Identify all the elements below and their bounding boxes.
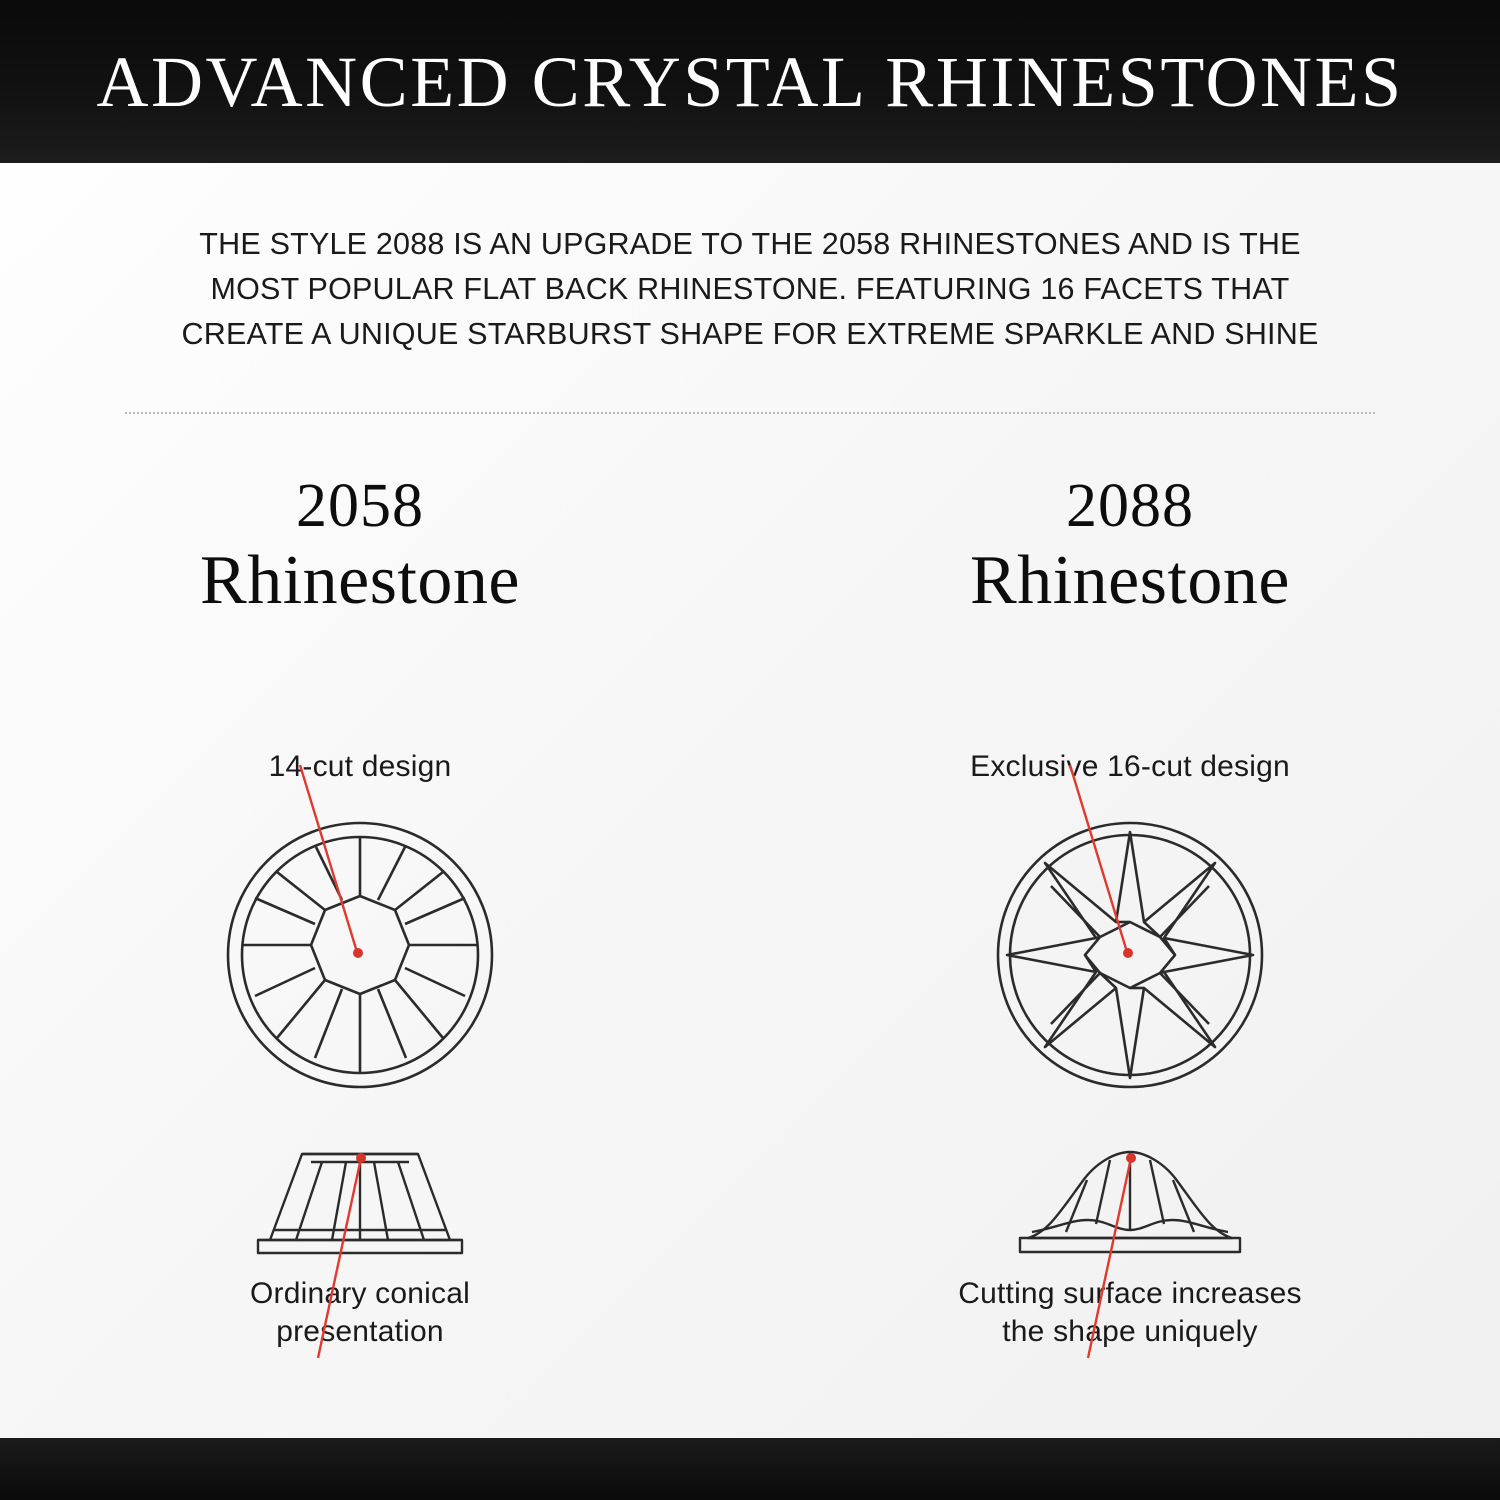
header-banner: ADVANCED CRYSTAL RHINESTONES (0, 0, 1500, 163)
caption-ordinary-conical: Ordinary conical presentation (20, 1275, 700, 1351)
column-2058: 2058 Rhinestone 14-cut design (20, 470, 700, 1400)
intro-line-3: CREATE A UNIQUE STARBURST SHAPE FOR EXTR… (120, 312, 1380, 357)
column-2058-heading: 2058 Rhinestone (20, 470, 700, 620)
intro-paragraph: THE STYLE 2088 IS AN UPGRADE TO THE 2058… (120, 222, 1380, 357)
leader-line (1070, 765, 1127, 952)
poster-root: ADVANCED CRYSTAL RHINESTONES THE STYLE 2… (0, 0, 1500, 1500)
leader-dot (353, 948, 363, 958)
caption-ordinary-conical-line2: presentation (20, 1313, 700, 1351)
caption-cutting-surface-line1: Cutting surface increases (790, 1275, 1470, 1313)
column-2088-number: 2088 (790, 470, 1470, 542)
intro-line-1: THE STYLE 2088 IS AN UPGRADE TO THE 2058… (120, 222, 1380, 267)
diagram-2088-side-view (790, 1120, 1470, 1280)
dotted-divider (125, 412, 1375, 416)
leader-dot (356, 1153, 366, 1163)
caption-16-cut-design: Exclusive 16-cut design (790, 748, 1470, 786)
column-2088-heading: 2088 Rhinestone (790, 470, 1470, 620)
column-2058-word: Rhinestone (20, 542, 700, 620)
diagram-2058-top-view (20, 800, 700, 1100)
intro-line-2: MOST POPULAR FLAT BACK RHINESTONE. FEATU… (120, 267, 1380, 312)
caption-cutting-surface-line2: the shape uniquely (790, 1313, 1470, 1351)
caption-cutting-surface: Cutting surface increases the shape uniq… (790, 1275, 1470, 1351)
leader-dot (1126, 1153, 1136, 1163)
footer-bar (0, 1438, 1500, 1500)
diagram-2088-top-view (790, 800, 1470, 1100)
caption-14-cut-design: 14-cut design (20, 748, 700, 786)
column-2088-word: Rhinestone (790, 542, 1470, 620)
column-2058-number: 2058 (20, 470, 700, 542)
leader-dot (1123, 948, 1133, 958)
column-2088: 2088 Rhinestone Exclusive 16-cut design (790, 470, 1470, 1400)
diagram-2058-side-view (20, 1120, 700, 1280)
page-title: ADVANCED CRYSTAL RHINESTONES (96, 46, 1403, 118)
leader-line (300, 765, 357, 952)
caption-ordinary-conical-line1: Ordinary conical (20, 1275, 700, 1313)
